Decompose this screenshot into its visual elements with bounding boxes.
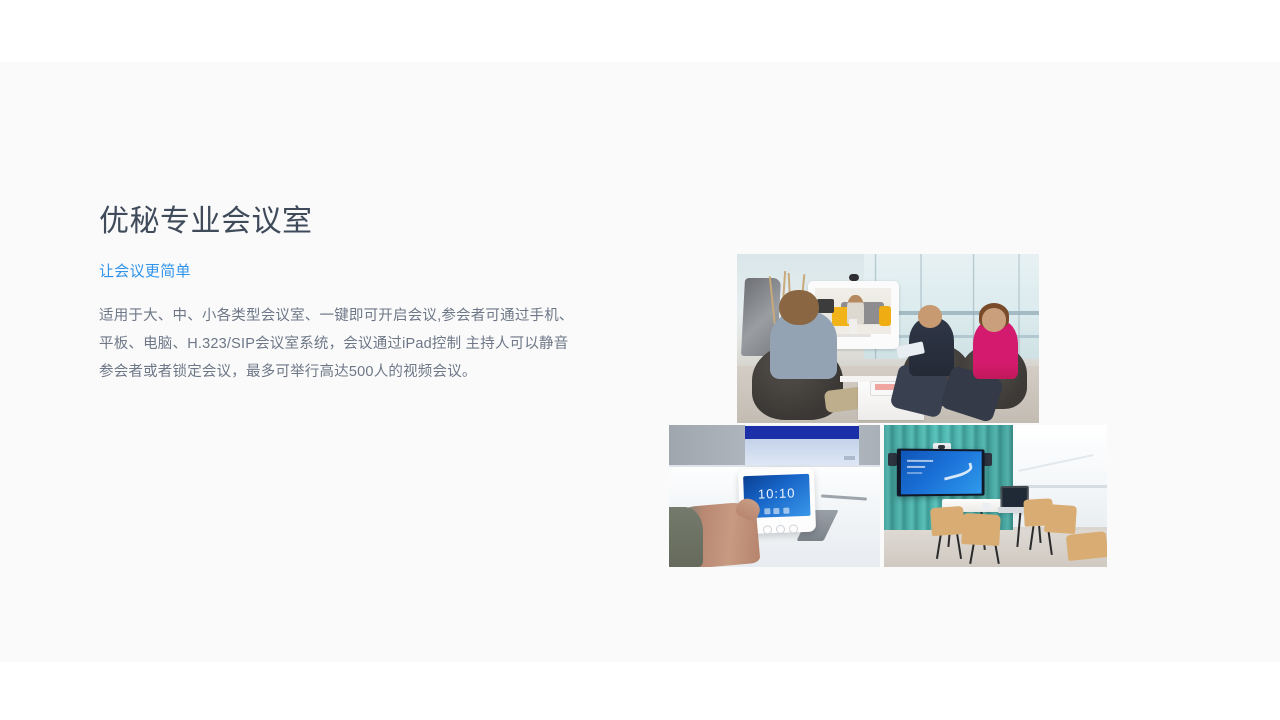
description-paragraph: 适用于大、中、小各类型会议室、一键即可开启会议,参会者可通过手机、平板、电脑、H… xyxy=(99,302,581,386)
huddle-room-photo xyxy=(884,425,1107,567)
text-column: 优秘专业会议室 让会议更简单 适用于大、中、小各类型会议室、一键即可开启会议,参… xyxy=(99,201,599,386)
top-white-band xyxy=(0,0,1280,62)
page-title: 优秘专业会议室 xyxy=(99,201,599,243)
photo-collage: 10:10 xyxy=(669,254,1107,567)
slide-page: 优秘专业会议室 让会议更简单 适用于大、中、小各类型会议室、一键即可开启会议,参… xyxy=(0,0,1280,720)
telepresence-lounge-photo xyxy=(737,254,1039,423)
telepresence-lounge-scene xyxy=(737,254,1039,423)
content-section: 优秘专业会议室 让会议更简单 适用于大、中、小各类型会议室、一键即可开启会议,参… xyxy=(0,62,1280,662)
bottom-white-band xyxy=(0,662,1280,720)
huddle-room-scene xyxy=(884,425,1107,567)
touch-panel-photo: 10:10 xyxy=(669,425,880,567)
touch-panel-scene: 10:10 xyxy=(669,425,880,567)
page-subtitle: 让会议更简单 xyxy=(99,261,599,283)
